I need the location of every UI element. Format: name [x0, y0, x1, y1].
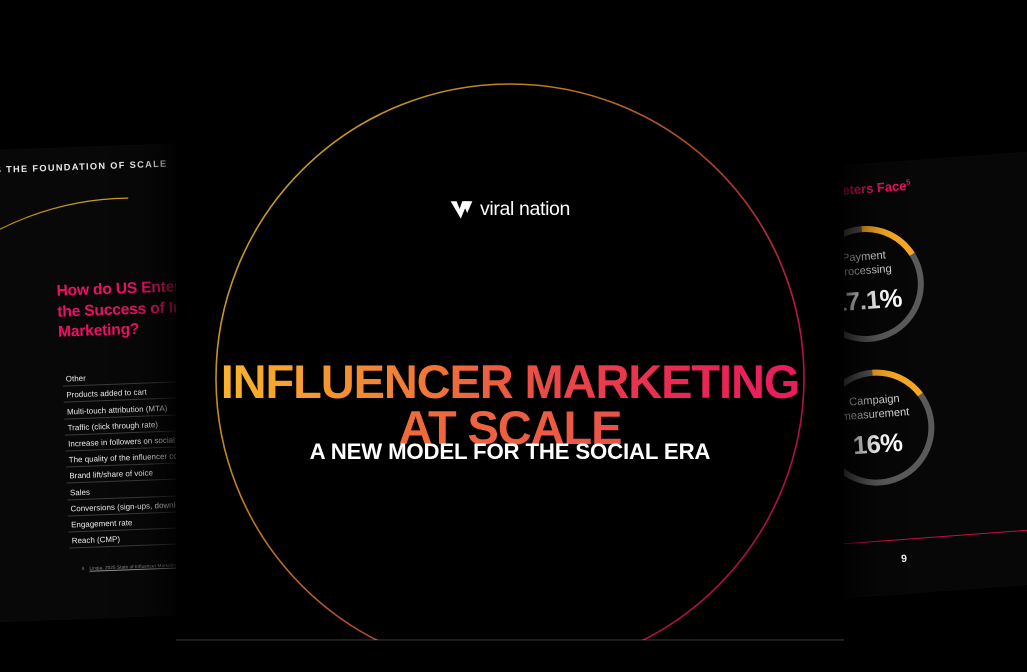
presentation-stage: MEASUREMENT IS THE FOUNDATION OF SCALE H… [0, 0, 1027, 672]
metric-label: Traffic (click through rate) [67, 420, 158, 432]
right-slide-divider [830, 530, 1027, 546]
metric-label: Sales [70, 487, 90, 497]
brand-wordmark: viral nation [480, 198, 570, 221]
footnote-superscript: 5 [906, 177, 911, 186]
page-subtitle: A NEW MODEL FOR THE SOCIAL ERA [176, 439, 844, 465]
metric-label: Engagement rate [71, 518, 133, 529]
page-title: INFLUENCER MARKETING AT SCALE [176, 359, 844, 450]
slide-measurement[interactable]: MEASUREMENT IS THE FOUNDATION OF SCALE H… [0, 144, 199, 626]
brand-logo[interactable]: viral nation [176, 198, 844, 221]
viral-nation-v-mark-icon [450, 200, 473, 220]
left-slide-eyebrow: MEASUREMENT IS THE FOUNDATION OF SCALE [0, 159, 168, 179]
metric-label: Reach (CMP) [72, 535, 121, 546]
donut-label-line2: processing [838, 263, 892, 279]
title-line-1: INFLUENCER MARKETING [176, 359, 844, 404]
footnote-marker: 8 [82, 566, 85, 571]
donut-label-line1: Payment [842, 249, 887, 264]
footnote-link[interactable]: Linqia, 2025 State of Influencer Marketi… [89, 562, 178, 570]
slide-bottom-rule [176, 639, 844, 640]
page-number: 9 [901, 553, 908, 565]
metric-label: Other [66, 374, 86, 384]
metric-label: Brand lift/share of voice [69, 469, 153, 481]
slide-marketer-challenges[interactable]: Marketers Face5 Payment processing 17.1%… [812, 147, 1027, 598]
metric-label: Increase in followers on social [68, 435, 175, 448]
metric-label: Products added to cart [66, 388, 147, 400]
left-slide-footnote: 8Linqia, 2025 State of Influencer Market… [82, 562, 179, 571]
slide-title-main[interactable]: viral nation INFLUENCER MARKETING AT SCA… [176, 0, 844, 641]
metric-label: Multi-touch attribution (MTA) [67, 403, 168, 416]
